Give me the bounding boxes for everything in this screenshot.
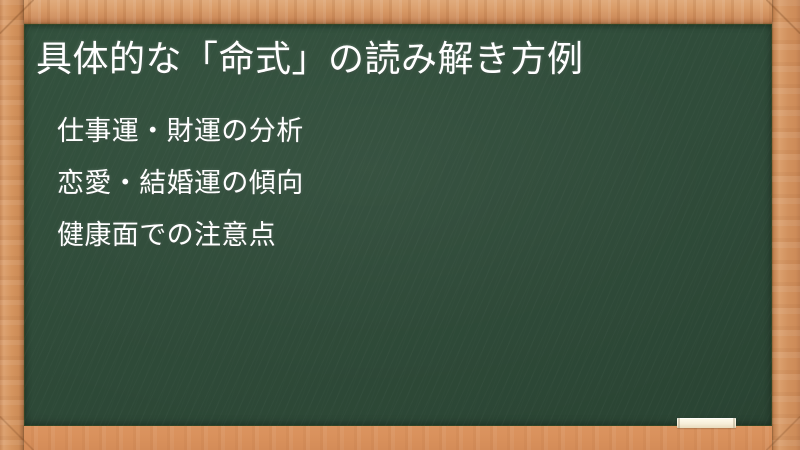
bullet-item-3: 健康面での注意点 [57, 209, 304, 261]
bullet-item-1: 仕事運・財運の分析 [57, 105, 304, 157]
slide-title: 具体的な「命式」の読み解き方例 [36, 34, 584, 84]
blackboard-content: 具体的な「命式」の読み解き方例 仕事運・財運の分析 恋愛・結婚運の傾向 健康面で… [24, 24, 772, 426]
frame-rail-top [0, 0, 800, 24]
blackboard-surface: 具体的な「命式」の読み解き方例 仕事運・財運の分析 恋愛・結婚運の傾向 健康面で… [24, 24, 772, 426]
frame-rail-bottom [0, 426, 800, 450]
bullet-item-2: 恋愛・結婚運の傾向 [57, 157, 304, 209]
frame-rail-left [0, 0, 24, 450]
slide-canvas: 具体的な「命式」の読み解き方例 仕事運・財運の分析 恋愛・結婚運の傾向 健康面で… [0, 0, 800, 450]
frame-rail-right [772, 0, 800, 450]
bullet-list: 仕事運・財運の分析 恋愛・結婚運の傾向 健康面での注意点 [57, 105, 304, 261]
chalk-stick [677, 418, 736, 428]
